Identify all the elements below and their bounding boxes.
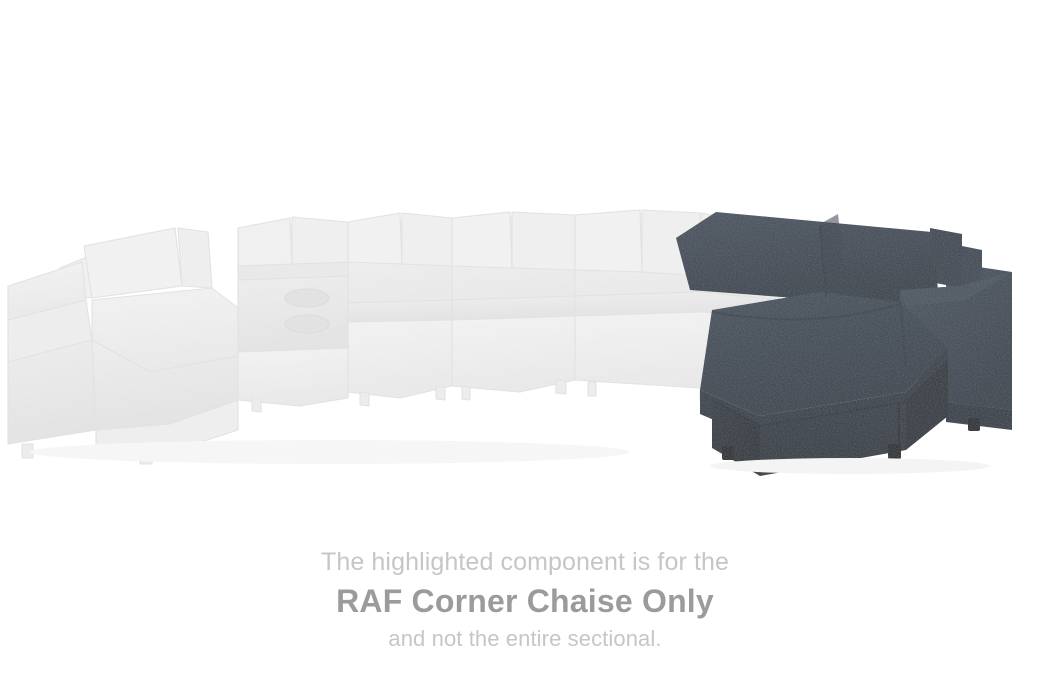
- caption-line-component-name: RAF Corner Chaise Only: [0, 579, 1050, 623]
- sectional-illustration: [0, 0, 1050, 530]
- ghost-module-laf-loveseat: [8, 228, 238, 464]
- product-highlight-screen: The highlighted component is for the RAF…: [0, 0, 1050, 700]
- caption-line-disclaimer: and not the entire sectional.: [0, 623, 1050, 654]
- chaise-leg-front-right: [888, 444, 901, 459]
- chaise-leg-front-left: [722, 446, 734, 460]
- caption-block: The highlighted component is for the RAF…: [0, 545, 1050, 654]
- chaise-base-seam: [898, 402, 900, 450]
- chaise-ground-shadow: [710, 458, 990, 474]
- highlighted-raf-corner-chaise: [676, 208, 1012, 476]
- ghost-sectional-group: [8, 210, 780, 464]
- caption-line-intro: The highlighted component is for the: [0, 545, 1050, 579]
- modular-sectional-diagram: [0, 0, 1050, 530]
- chaise-leg-rear-right: [968, 418, 980, 431]
